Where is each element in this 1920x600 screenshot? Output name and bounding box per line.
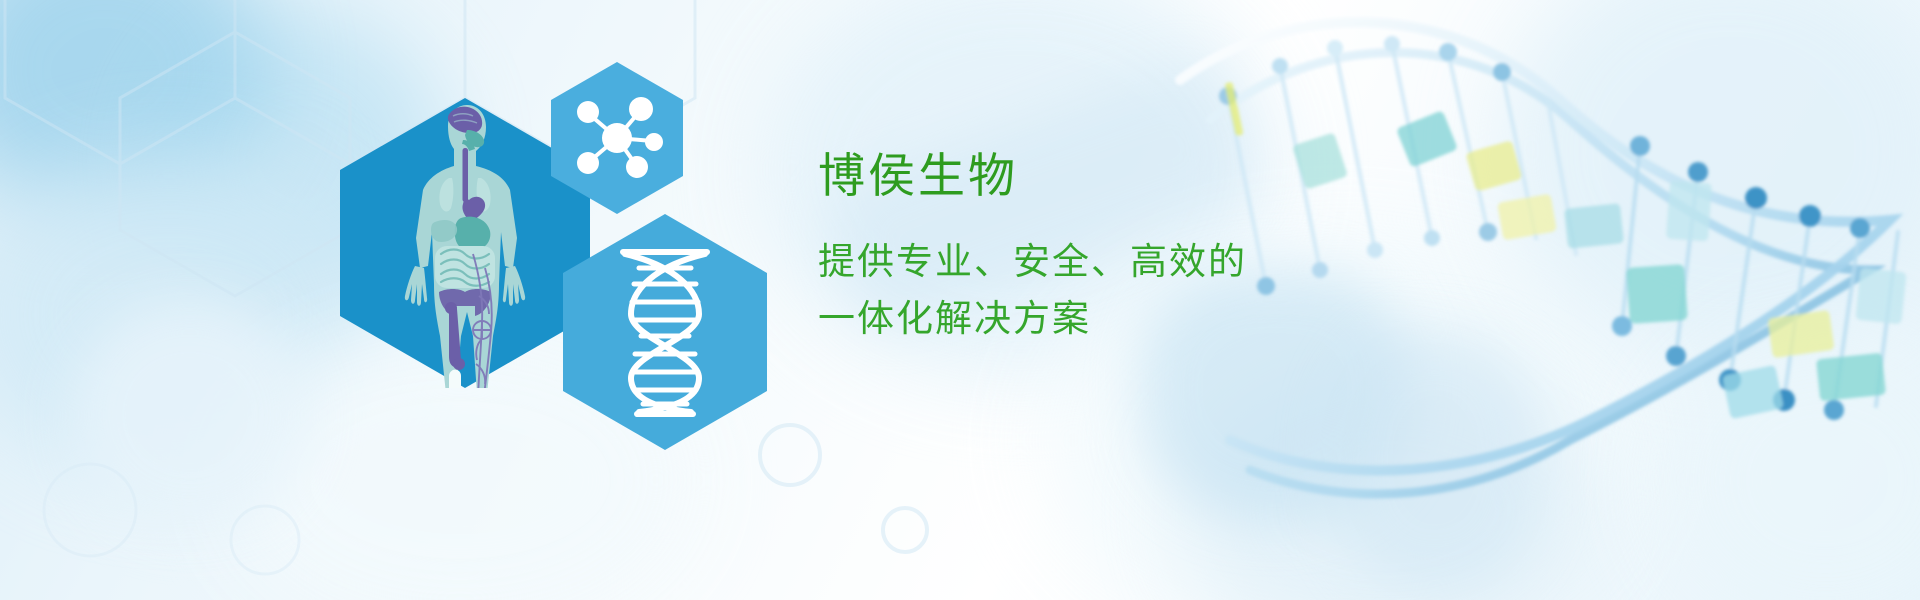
company-name: 博侯生物 <box>818 152 1378 199</box>
molecule-hexagon-badge <box>551 62 683 214</box>
banner-copy: 博侯生物 提供专业、安全、高效的 一体化解决方案 <box>818 152 1378 337</box>
tagline-line-1: 提供专业、安全、高效的 <box>818 243 1378 280</box>
hero-banner: 博侯生物 提供专业、安全、高效的 一体化解决方案 <box>0 0 1920 600</box>
intestines-icon <box>435 246 495 288</box>
tagline-line-2: 一体化解决方案 <box>818 300 1378 337</box>
dna-hexagon-badge <box>563 214 767 450</box>
